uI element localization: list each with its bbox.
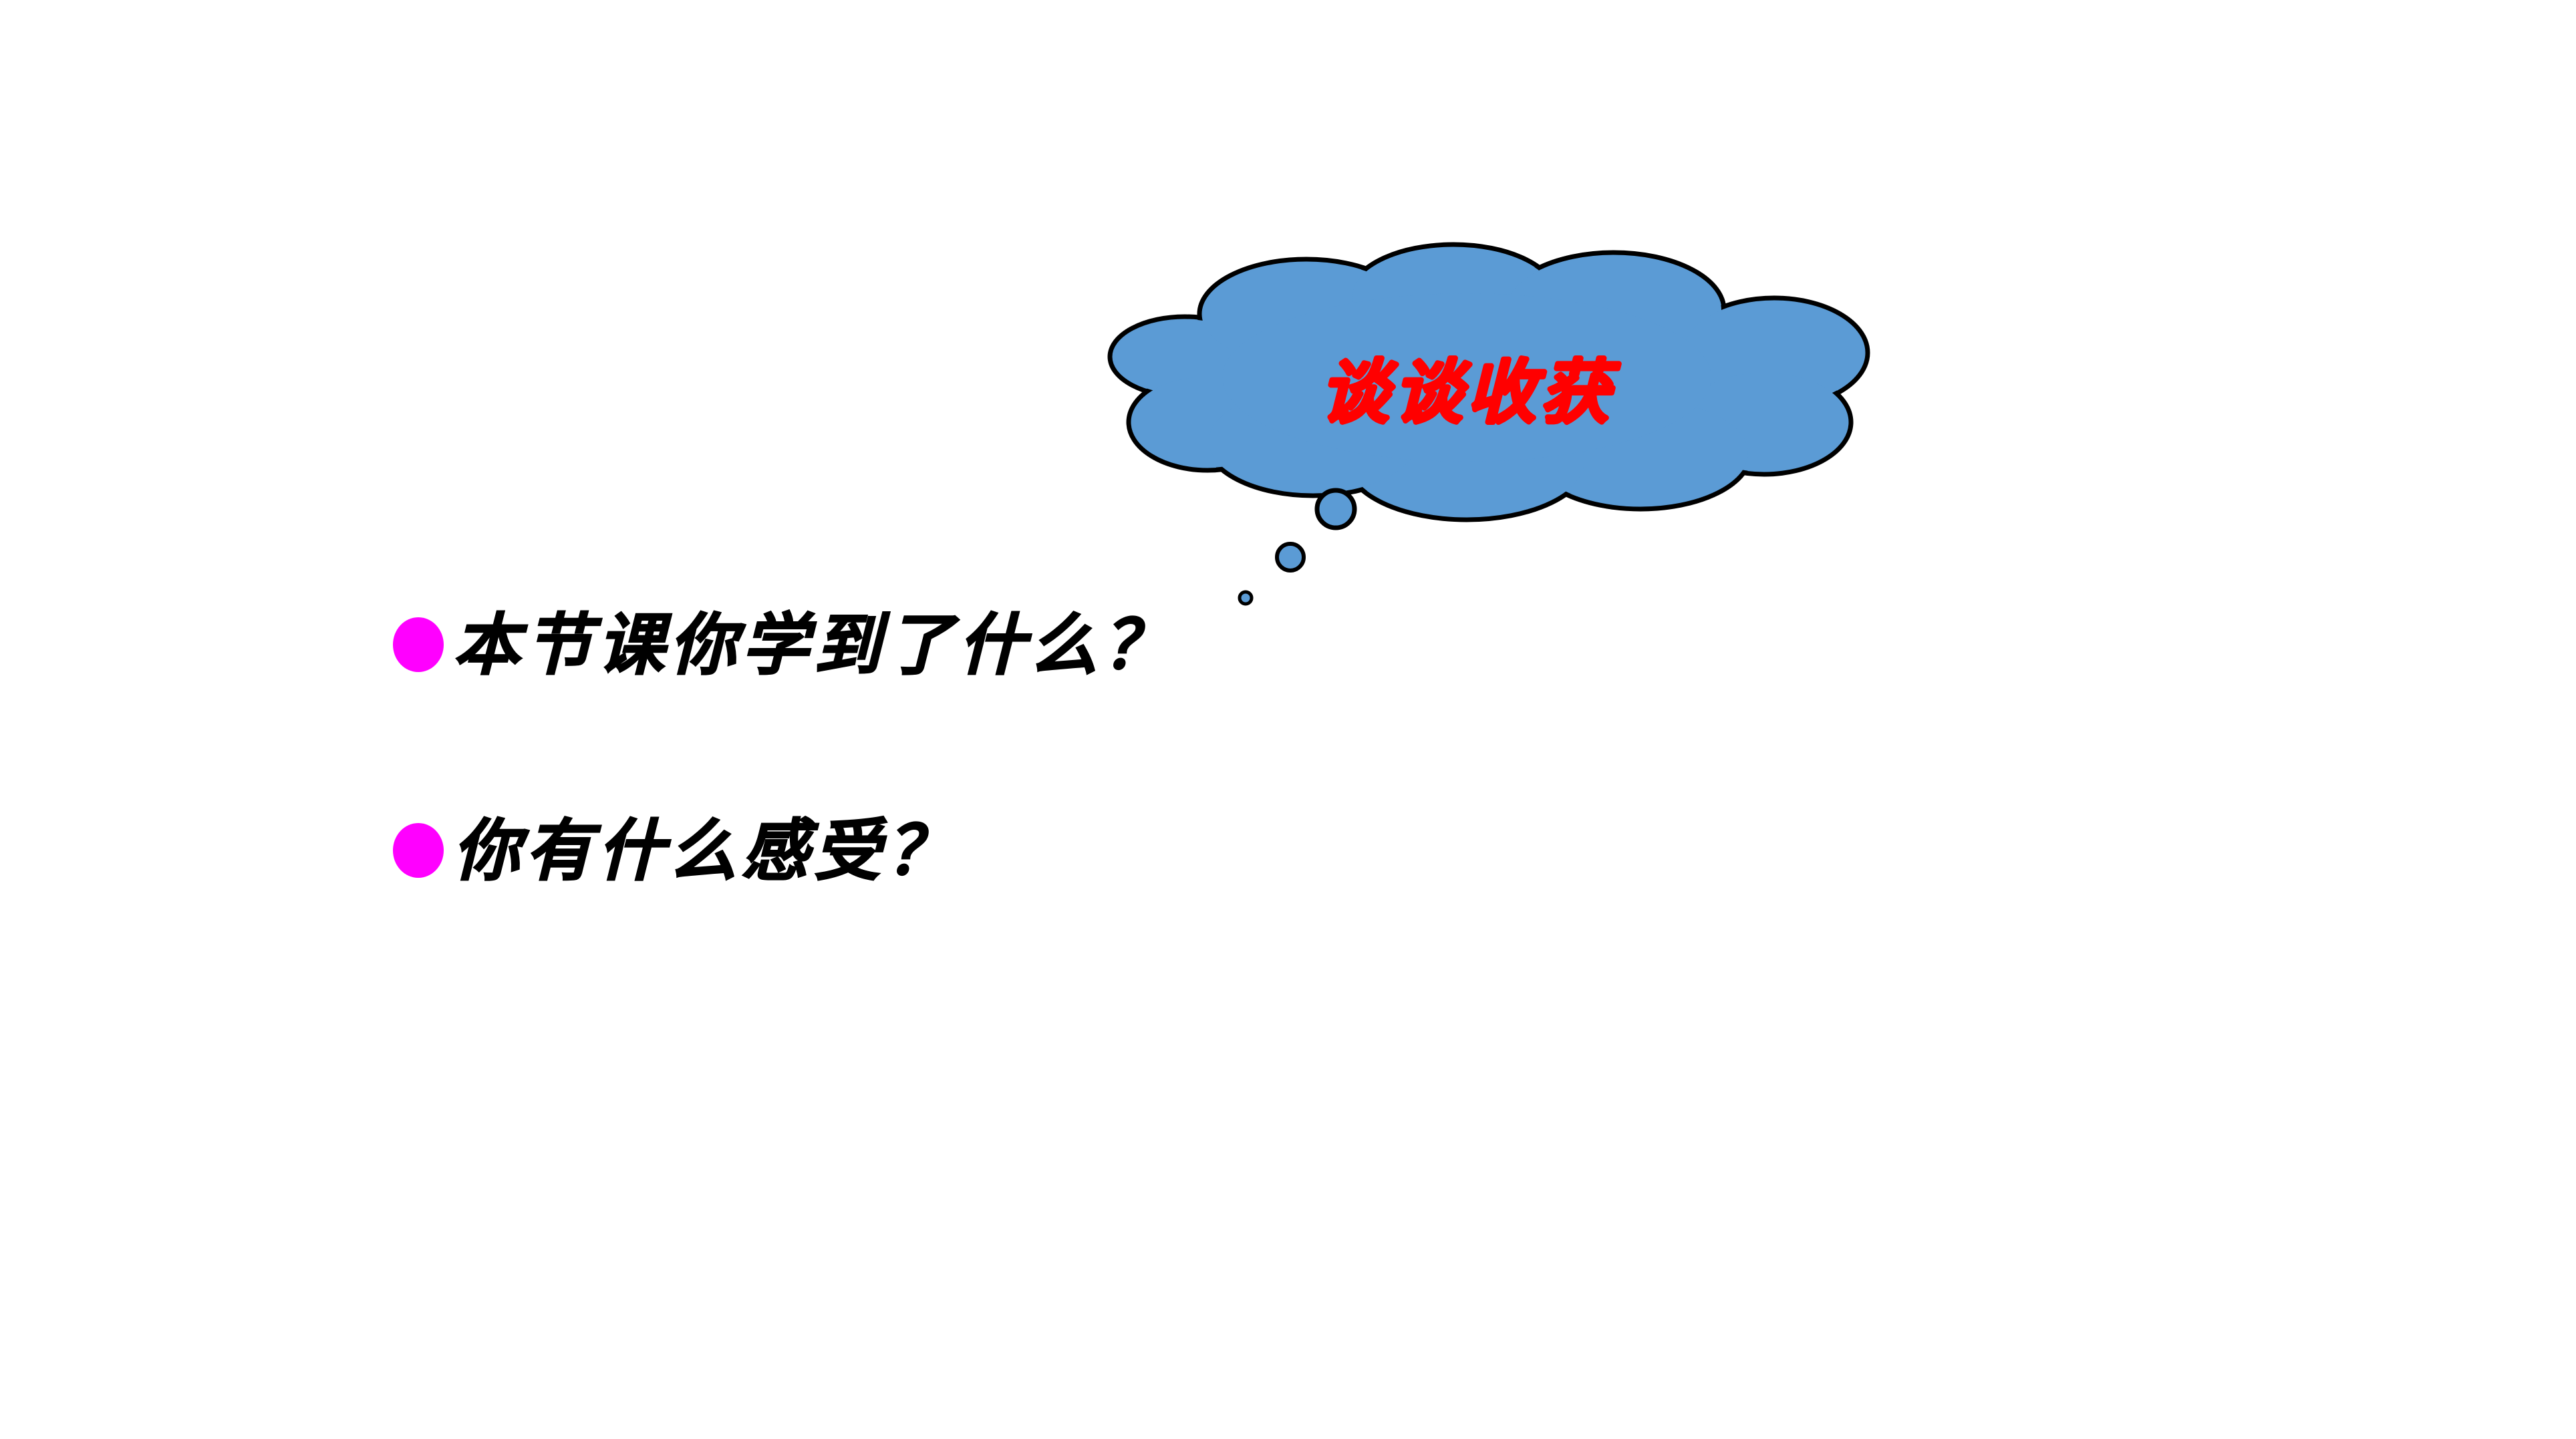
bullet-item-text: 本节课你学到了什么？	[453, 610, 1175, 680]
bullet-marker-icon	[393, 617, 444, 672]
trail-bubble-medium	[1277, 544, 1304, 571]
list-item[interactable]: 你有什么感受？	[393, 800, 1997, 901]
thought-bubble[interactable]: 谈谈收获	[1106, 241, 1881, 621]
bubble-title: 谈谈收获	[1320, 351, 1620, 433]
trail-bubble-large	[1317, 490, 1354, 528]
slide-canvas: 谈谈收获 本节课你学到了什么？ 你有什么感受？	[0, 0, 2576, 1439]
bullet-item-text: 你有什么感受？	[453, 816, 958, 886]
list-item[interactable]: 本节课你学到了什么？	[393, 595, 1997, 695]
bullet-marker-icon	[393, 823, 444, 878]
bullet-list: 本节课你学到了什么？ 你有什么感受？	[393, 595, 1997, 901]
